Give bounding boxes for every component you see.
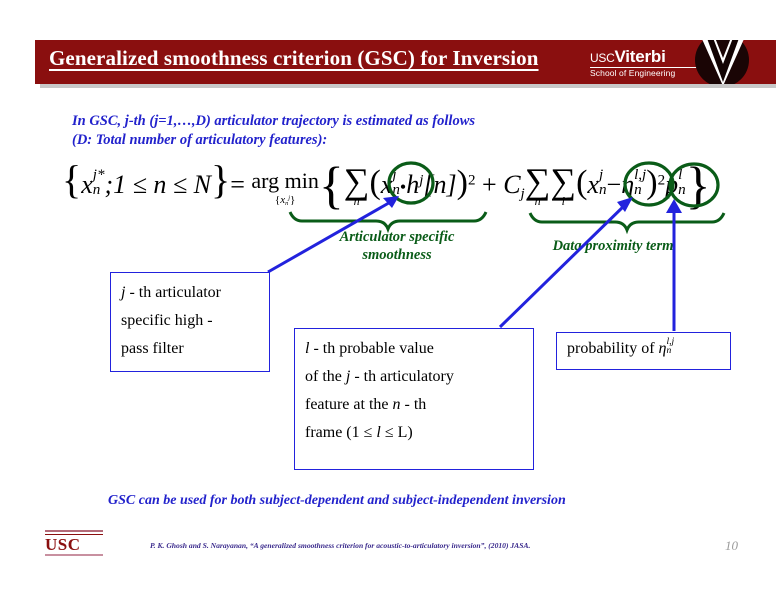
eq-term1-x: x bbox=[381, 170, 393, 199]
eq-term2-eta-sub: n bbox=[634, 182, 642, 198]
title-banner: Generalized smoothness criterion (GSC) f… bbox=[35, 40, 776, 84]
probable-line3-rest: - th bbox=[401, 396, 427, 413]
eq-term1-x-sub: n bbox=[392, 182, 400, 198]
eq-term3-p: p bbox=[665, 170, 678, 199]
box-probability: probability of ηl,jn bbox=[556, 332, 731, 370]
eq-argmin-subscript: {xnj} bbox=[251, 194, 318, 207]
smoothness-line-1: Articulator specific bbox=[312, 228, 482, 246]
eq-term1-x-script: jn bbox=[392, 168, 400, 197]
filter-line-2: specific high - bbox=[121, 307, 259, 335]
viterbi-wordmark: Viterbi bbox=[614, 47, 665, 66]
eq-minus: − bbox=[607, 170, 622, 199]
probable-n-symbol: n bbox=[393, 396, 401, 413]
main-equation: {xj*n;1 ≤ n ≤ N}= arg min{xnj}{∑n(xjn•hj… bbox=[62, 156, 711, 215]
eq-lhs-open-brace: { bbox=[62, 157, 81, 202]
probable-line-1: l - th probable value bbox=[305, 335, 523, 363]
eq-lhs-var: x bbox=[81, 170, 93, 199]
eq-term2-power: 2 bbox=[658, 173, 666, 189]
probable-line4-rest: ≤ L) bbox=[381, 424, 413, 441]
eq-equals: = bbox=[230, 170, 245, 199]
usc-logo-text: USC bbox=[45, 535, 105, 554]
label-data-proximity: Data proximity term bbox=[518, 237, 708, 255]
eq-term2-eta: η bbox=[621, 170, 634, 199]
eq-term1-h: h bbox=[406, 170, 419, 199]
filter-line-3: pass filter bbox=[121, 335, 259, 363]
eq-term1-close: ) bbox=[457, 164, 468, 201]
eq-term2-x: x bbox=[587, 170, 599, 199]
probable-line-2: of the j - th articulatory bbox=[305, 363, 523, 391]
filter-line-1: j - th articulator bbox=[121, 279, 259, 307]
probability-eta-symbol: η bbox=[659, 340, 667, 357]
eq-term2-x-sub: n bbox=[599, 182, 607, 198]
probable-line3-pre: feature at the bbox=[305, 396, 393, 413]
eq-lhs-sub: n bbox=[93, 182, 101, 198]
citation-text: P. K. Ghosh and S. Narayanan, “A general… bbox=[150, 541, 710, 550]
eq-sum1-symbol: ∑ bbox=[344, 167, 370, 196]
intro-line-2: (D: Total number of articulatory feature… bbox=[72, 131, 672, 150]
label-articulator-smoothness: Articulator specific smoothness bbox=[312, 228, 482, 264]
eq-sum-3: ∑l bbox=[550, 167, 576, 208]
eq-coef-C: C bbox=[503, 170, 520, 199]
bottom-note: GSC can be used for both subject-depende… bbox=[108, 493, 728, 509]
usc-wordmark: USC bbox=[590, 51, 614, 65]
box-probable-value: l - th probable value of the j - th arti… bbox=[294, 328, 534, 470]
viterbi-v-mark-icon bbox=[678, 40, 768, 84]
page-title: Generalized smoothness criterion (GSC) f… bbox=[49, 46, 539, 71]
eq-argmin: arg min{xnj} bbox=[251, 168, 318, 207]
eq-sum3-symbol: ∑ bbox=[550, 167, 576, 196]
probable-line2-rest: - th articulatory bbox=[350, 368, 454, 385]
eq-term2-open: ( bbox=[576, 164, 587, 201]
eq-lhs-var-script: j*n bbox=[93, 168, 105, 197]
eq-term2-close: ) bbox=[646, 164, 657, 201]
filter-line1-rest: - th articulator bbox=[125, 284, 221, 301]
usc-logo-rule-bottom bbox=[45, 554, 103, 556]
usc-footer-logo: USC bbox=[45, 530, 105, 560]
eq-argmin-label: arg min bbox=[251, 168, 318, 193]
page-number: 10 bbox=[725, 538, 738, 554]
slide-canvas: Generalized smoothness criterion (GSC) f… bbox=[0, 0, 776, 600]
eq-term3-p-script: ln bbox=[678, 168, 686, 197]
eq-term3-p-sub: n bbox=[678, 182, 686, 198]
probable-line1-rest: - th probable value bbox=[309, 340, 433, 357]
arrow-probable-line bbox=[500, 203, 627, 327]
eq-term1-bracket: [n] bbox=[423, 170, 456, 199]
probable-line-4: frame (1 ≤ l ≤ L) bbox=[305, 419, 523, 447]
probability-eta-script: l,jn bbox=[666, 337, 674, 355]
eq-sum2-symbol: ∑ bbox=[525, 167, 551, 196]
eq-sum-2: ∑n bbox=[525, 167, 551, 208]
eq-lhs-range: ;1 ≤ n ≤ N bbox=[104, 170, 211, 199]
eq-close-brace: } bbox=[686, 157, 711, 214]
probable-line4-pre: frame (1 ≤ bbox=[305, 424, 376, 441]
eq-plus: + bbox=[482, 170, 497, 199]
eq-term2-eta-script: l,jn bbox=[634, 168, 646, 197]
eq-term2-x-script: jn bbox=[599, 168, 607, 197]
intro-line-1: In GSC, j-th (j=1,…,D) articulator traje… bbox=[72, 112, 672, 131]
eq-sum-1: ∑n bbox=[344, 167, 370, 208]
intro-text: In GSC, j-th (j=1,…,D) articulator traje… bbox=[72, 112, 672, 150]
eq-lhs-close-brace: } bbox=[211, 157, 230, 202]
brace-data-proximity bbox=[530, 213, 724, 230]
box-highpass-filter: j - th articulator specific high - pass … bbox=[110, 272, 270, 372]
probability-text: probability of bbox=[567, 340, 659, 357]
usc-logo-rule-top-1 bbox=[45, 530, 103, 532]
bottom-note-text: GSC can be used for both subject-depende… bbox=[108, 493, 566, 508]
smoothness-line-2: smoothness bbox=[312, 246, 482, 264]
eq-argmin-close: } bbox=[290, 194, 295, 206]
eq-open-brace: { bbox=[319, 157, 344, 214]
banner-shadow bbox=[40, 84, 776, 88]
probability-eta-sub: n bbox=[666, 345, 671, 356]
probable-line-3: feature at the n - th bbox=[305, 391, 523, 419]
eq-term1-power: 2 bbox=[468, 173, 476, 189]
probable-line2-pre: of the bbox=[305, 368, 346, 385]
eq-term1-open: ( bbox=[369, 164, 380, 201]
